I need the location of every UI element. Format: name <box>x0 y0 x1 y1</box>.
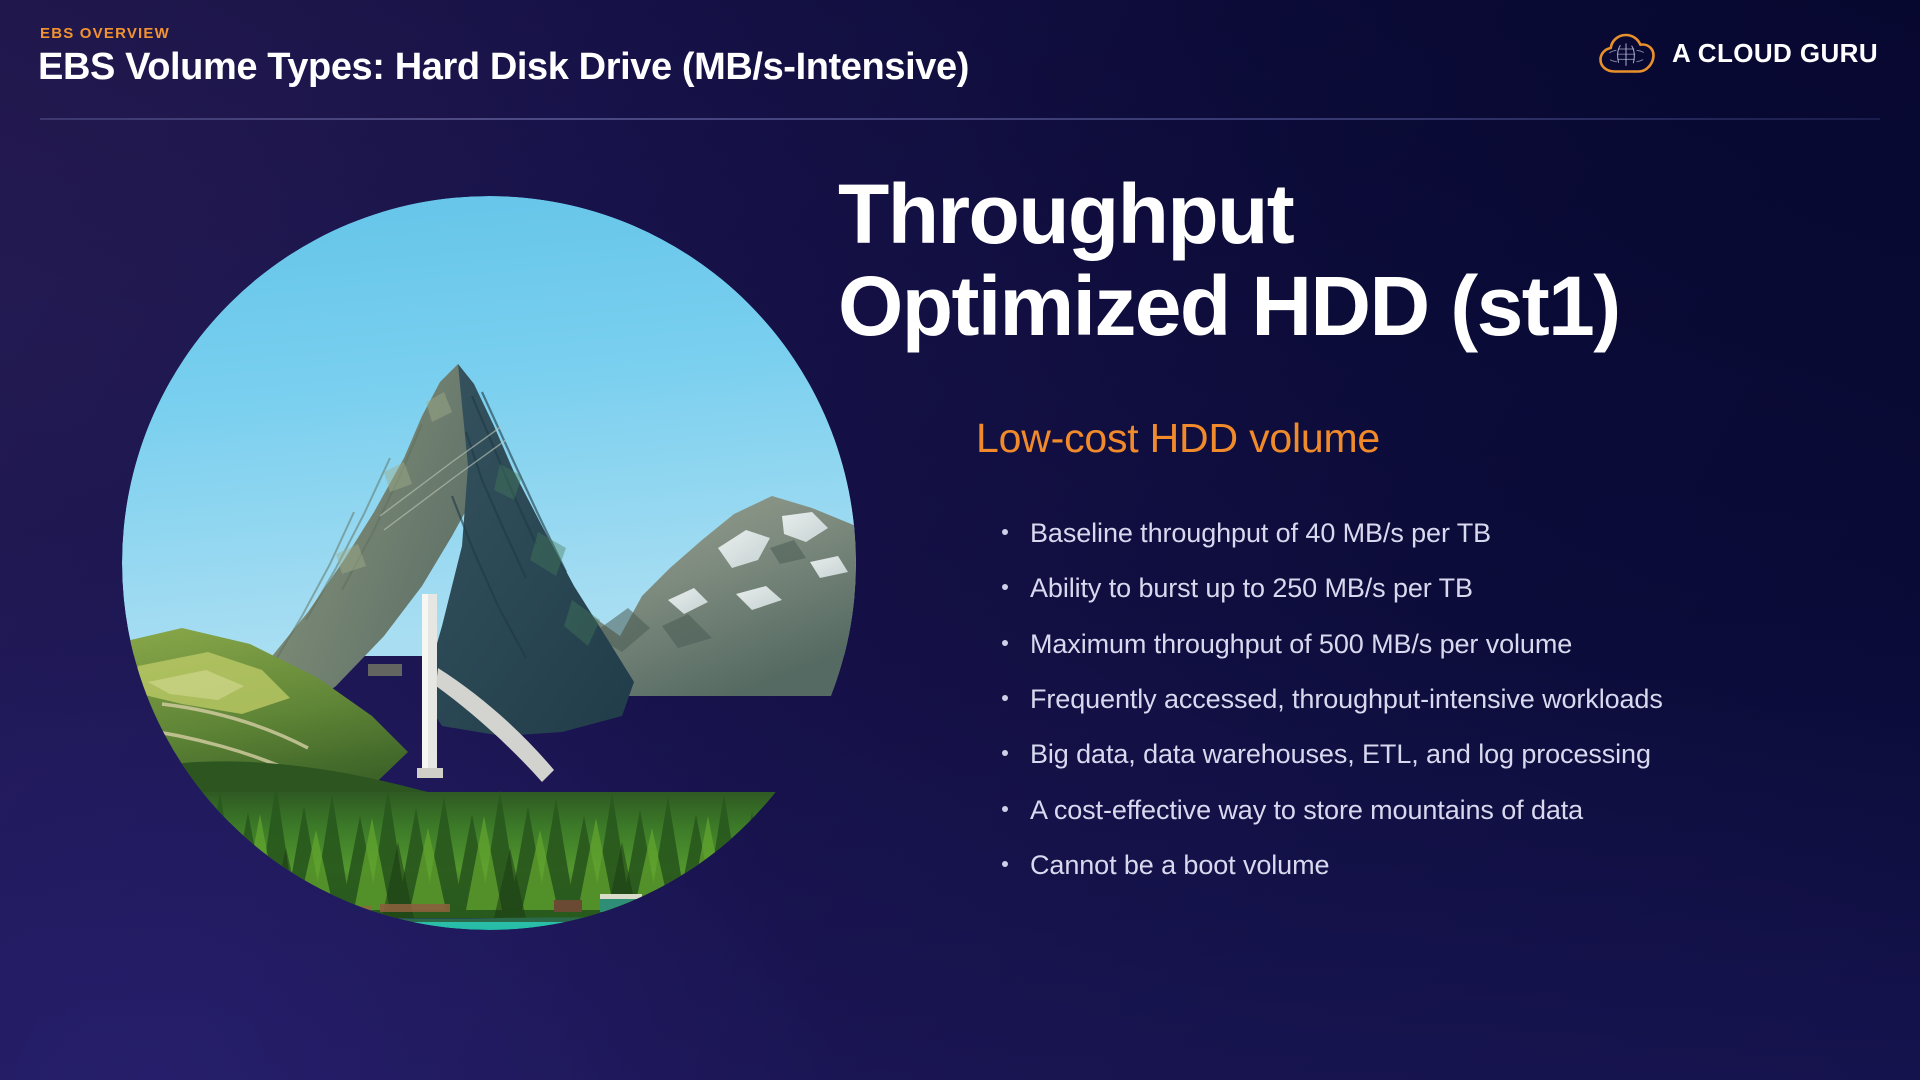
list-item: Cannot be a boot volume <box>1000 849 1858 881</box>
headline: Throughput Optimized HDD (st1) <box>838 168 1858 353</box>
bullet-dot-icon <box>1002 861 1008 867</box>
brand-name-label: A CLOUD GURU <box>1672 38 1878 69</box>
subheading: Low-cost HDD volume <box>976 415 1858 462</box>
bullet-dot-icon <box>1002 806 1008 812</box>
brand-logo: A CLOUD GURU <box>1598 32 1878 74</box>
bullet-list: Baseline throughput of 40 MB/s per TB Ab… <box>1000 517 1858 882</box>
slide-canvas: EBS OVERVIEW EBS Volume Types: Hard Disk… <box>0 0 1920 1080</box>
bullet-dot-icon <box>1002 640 1008 646</box>
slide-header: EBS OVERVIEW EBS Volume Types: Hard Disk… <box>0 0 1920 122</box>
headline-line-1: Throughput <box>838 167 1293 261</box>
bullet-dot-icon <box>1002 584 1008 590</box>
list-item-label: Frequently accessed, throughput-intensiv… <box>1030 684 1663 714</box>
mountain-lake-photo <box>122 196 856 930</box>
header-divider <box>40 118 1880 120</box>
page-title: EBS Volume Types: Hard Disk Drive (MB/s-… <box>38 46 969 89</box>
headline-line-2: Optimized HDD (st1) <box>838 260 1858 352</box>
list-item: Baseline throughput of 40 MB/s per TB <box>1000 517 1858 549</box>
bullet-dot-icon <box>1002 529 1008 535</box>
list-item: Ability to burst up to 250 MB/s per TB <box>1000 572 1858 604</box>
list-item-label: Ability to burst up to 250 MB/s per TB <box>1030 573 1473 603</box>
list-item: Maximum throughput of 500 MB/s per volum… <box>1000 628 1858 660</box>
list-item: Frequently accessed, throughput-intensiv… <box>1000 683 1858 715</box>
eyebrow-label: EBS OVERVIEW <box>40 25 170 42</box>
list-item-label: Big data, data warehouses, ETL, and log … <box>1030 739 1651 769</box>
list-item-label: Baseline throughput of 40 MB/s per TB <box>1030 518 1491 548</box>
list-item: A cost-effective way to store mountains … <box>1000 794 1858 826</box>
list-item-label: A cost-effective way to store mountains … <box>1030 795 1583 825</box>
main-content: Throughput Optimized HDD (st1) Low-cost … <box>838 168 1858 905</box>
bullet-dot-icon <box>1002 750 1008 756</box>
cloud-icon <box>1598 32 1656 74</box>
list-item-label: Maximum throughput of 500 MB/s per volum… <box>1030 629 1572 659</box>
list-item-label: Cannot be a boot volume <box>1030 850 1329 880</box>
list-item: Big data, data warehouses, ETL, and log … <box>1000 738 1858 770</box>
bullet-dot-icon <box>1002 695 1008 701</box>
